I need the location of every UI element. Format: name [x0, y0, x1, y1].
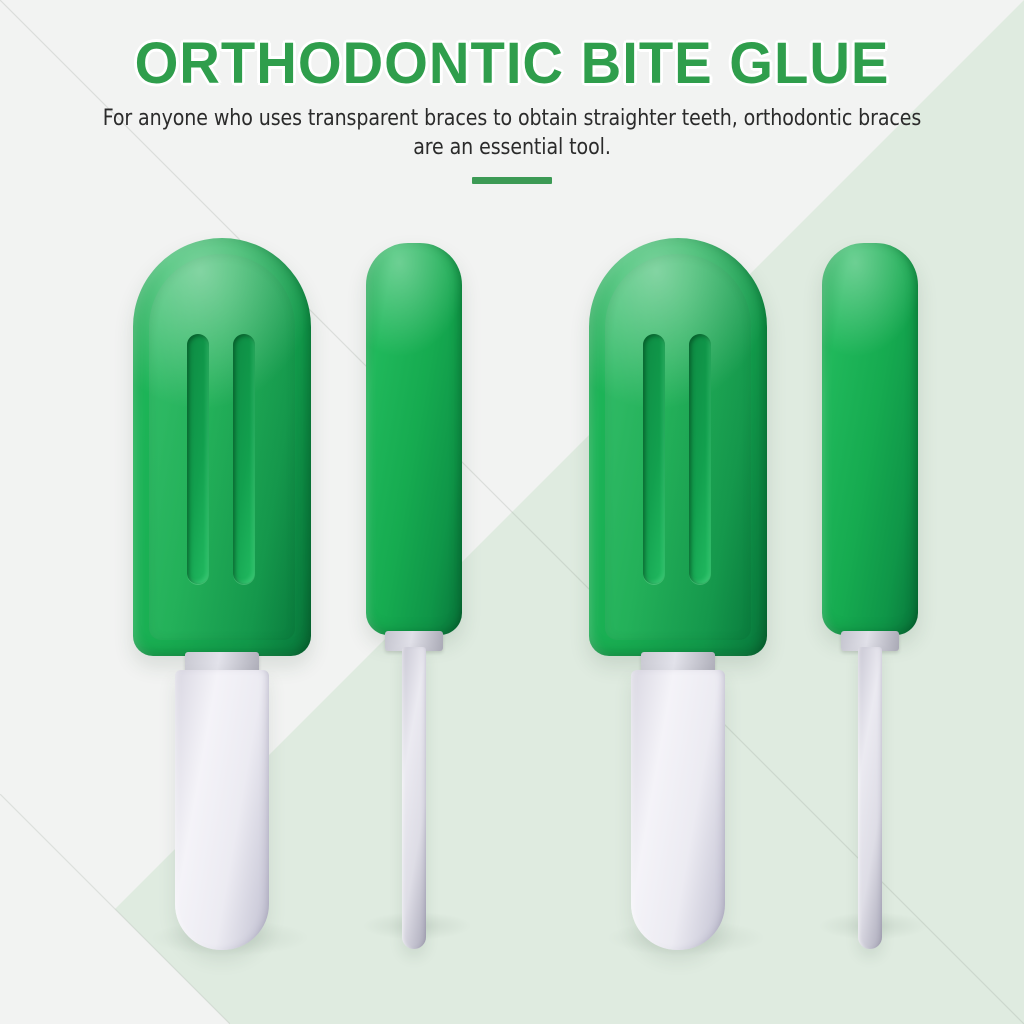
product-groove	[689, 334, 711, 584]
product-head	[366, 243, 462, 635]
product-stick	[631, 670, 725, 950]
product-groove	[187, 334, 209, 584]
product-head	[822, 243, 918, 635]
page-title: ORTHODONTIC BITE GLUE	[15, 0, 1008, 94]
product-head-panel	[149, 254, 295, 640]
product-groove	[643, 334, 665, 584]
bite-glue-side-right[interactable]	[822, 243, 918, 635]
product-head	[133, 238, 311, 656]
header: ORTHODONTIC BITE GLUE For anyone who use…	[0, 0, 1024, 184]
bite-glue-front-left[interactable]	[133, 238, 311, 656]
product-head-panel	[605, 254, 751, 640]
product-banner: ORTHODONTIC BITE GLUE For anyone who use…	[0, 0, 1024, 1024]
page-subtitle: For anyone who uses transparent braces t…	[89, 104, 935, 163]
title-divider	[472, 177, 552, 184]
product-head	[589, 238, 767, 656]
product-stick	[402, 647, 426, 949]
product-stick	[858, 647, 882, 949]
bite-glue-side-left[interactable]	[366, 243, 462, 635]
product-groove	[233, 334, 255, 584]
product-stick	[175, 670, 269, 950]
bite-glue-front-right[interactable]	[589, 238, 767, 656]
